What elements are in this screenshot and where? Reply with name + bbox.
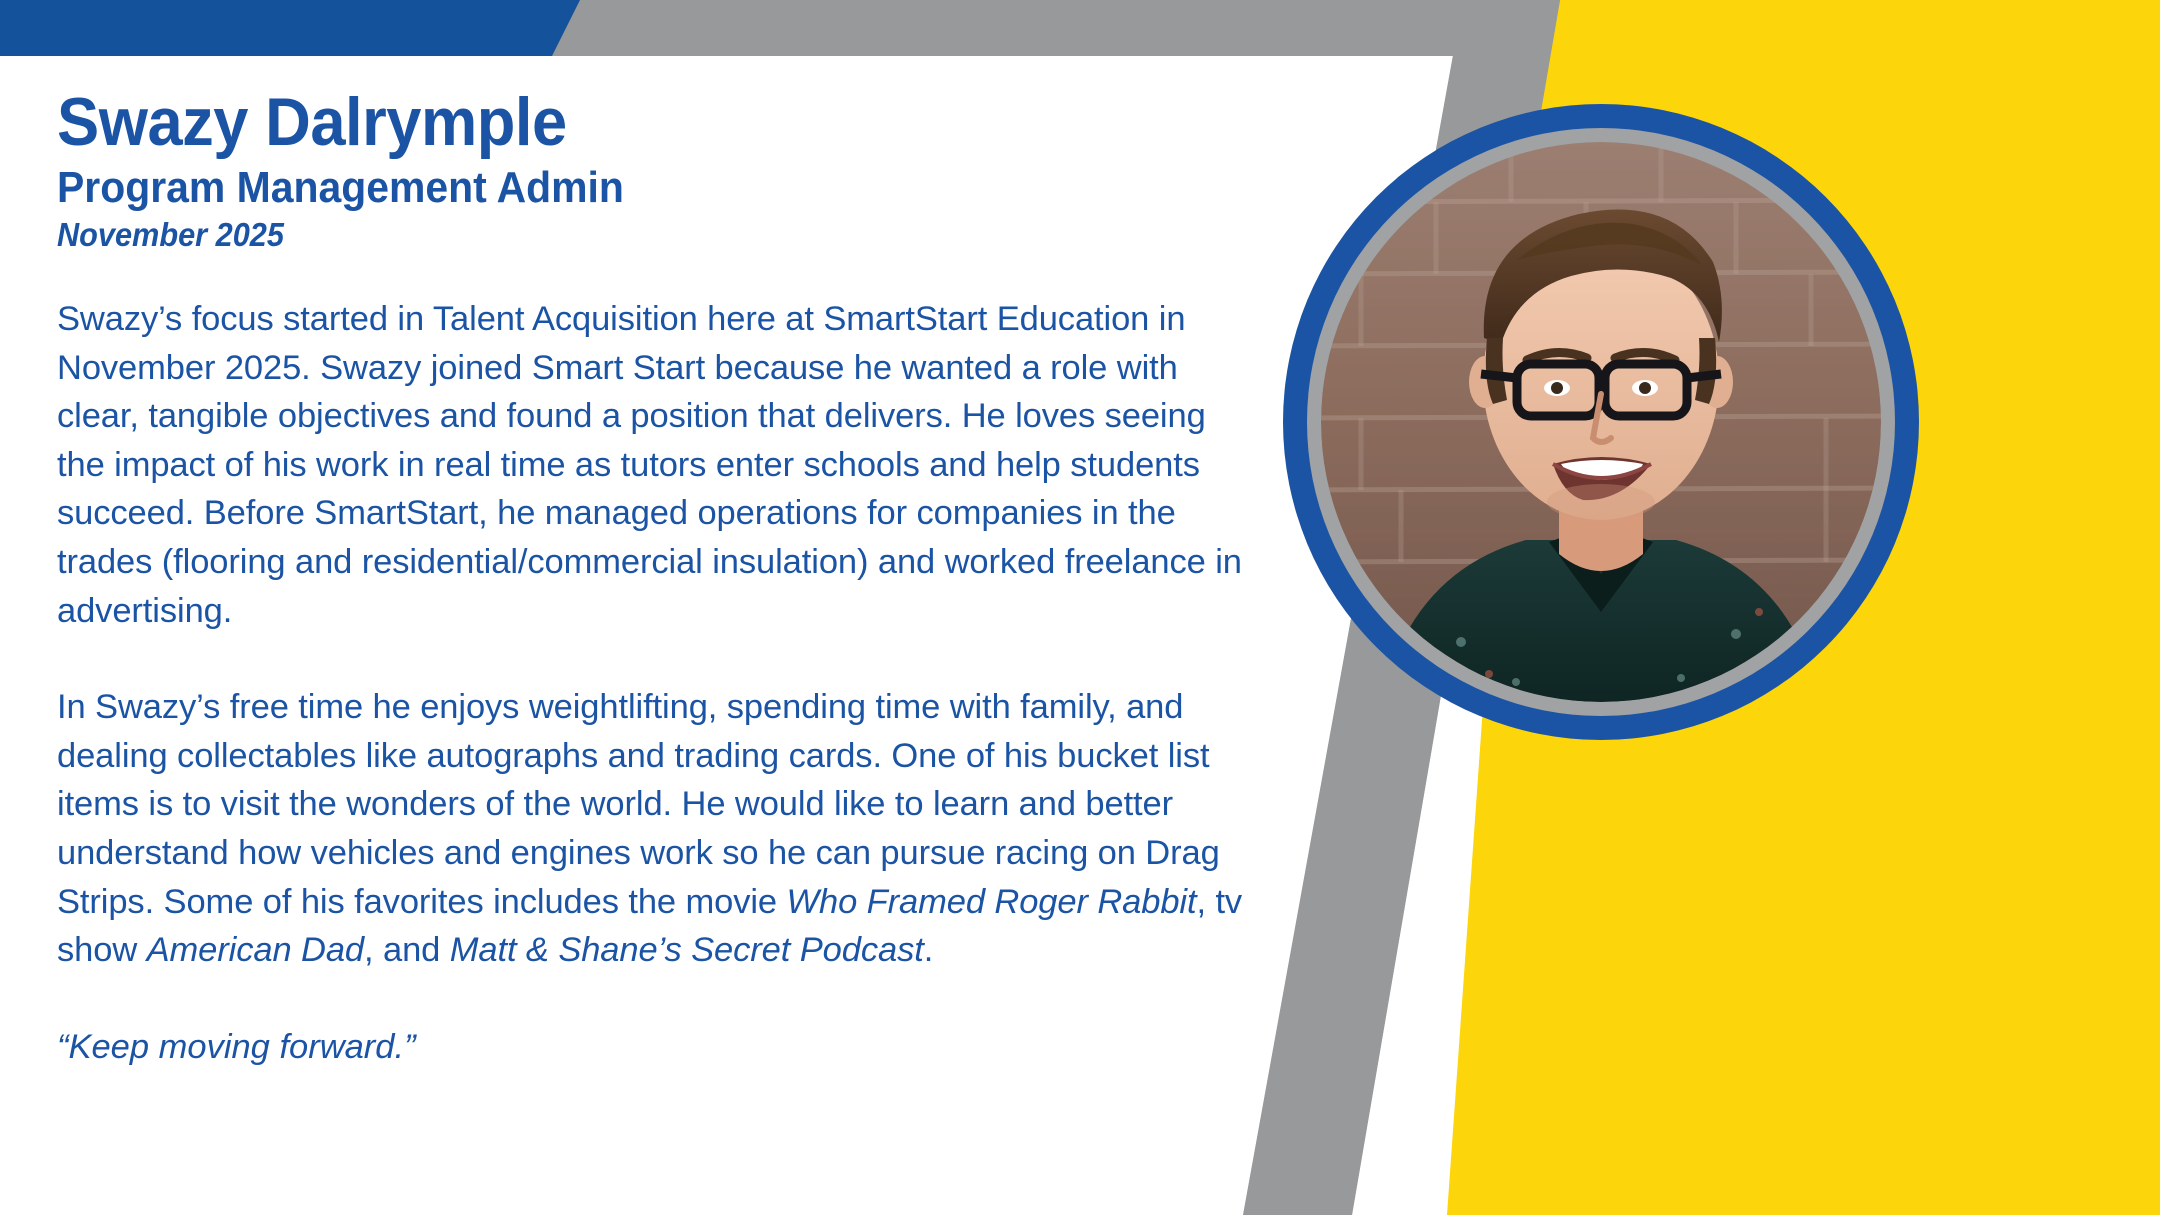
personal-quote: “Keep moving forward.” [57, 1023, 1257, 1072]
employee-role: Program Management Admin [57, 166, 1187, 210]
spotlight-body: Swazy’s focus started in Talent Acquisit… [57, 295, 1257, 1071]
employee-spotlight-slide: Swazy Dalrymple Program Management Admin… [0, 0, 2160, 1215]
italic-title: American Dad [147, 931, 364, 969]
body-text-run: Swazy’s focus started in Talent Acquisit… [57, 300, 1242, 630]
bio-paragraph-one: Swazy’s focus started in Talent Acquisit… [57, 295, 1257, 635]
body-text-run: . [924, 931, 934, 969]
portrait [1283, 104, 1919, 740]
italic-title: Who Framed Roger Rabbit [787, 883, 1197, 921]
body-text-run: , and [364, 931, 450, 969]
portrait-photo [1321, 142, 1881, 702]
employee-name: Swazy Dalrymple [57, 88, 1187, 156]
spotlight-text-column: Swazy Dalrymple Program Management Admin… [57, 88, 1272, 1071]
gray-angled-banner [528, 0, 1490, 56]
spotlight-date: November 2025 [57, 218, 1187, 251]
blue-angled-banner [0, 0, 580, 56]
headshot-illustration [1321, 142, 1881, 702]
italic-title: Matt & Shane’s Secret Podcast [450, 931, 924, 969]
bio-paragraph-two: In Swazy’s free time he enjoys weightlif… [57, 683, 1257, 975]
